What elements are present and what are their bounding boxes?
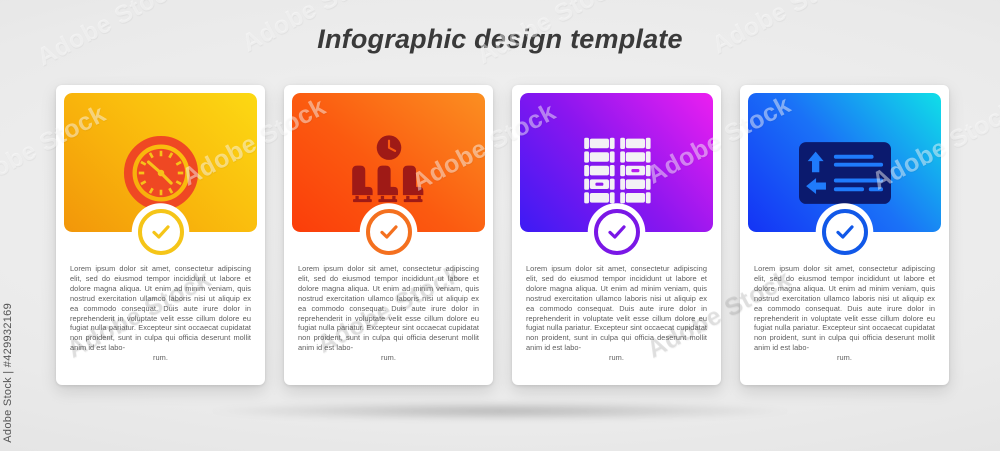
card-body-text: Lorem ipsum dolor sit amet, consectetur … bbox=[64, 264, 257, 385]
card-panel-wrapper bbox=[292, 93, 485, 232]
card-waiting-room[interactable]: Lorem ipsum dolor sit amet, consectetur … bbox=[284, 85, 493, 385]
clock-icon bbox=[122, 134, 200, 212]
seat-marker bbox=[631, 169, 639, 172]
cards-row: Lorem ipsum dolor sit amet, consectetur … bbox=[56, 85, 948, 385]
information-direction-board-icon bbox=[799, 142, 891, 204]
card-clock[interactable]: Lorem ipsum dolor sit amet, consectetur … bbox=[56, 85, 265, 385]
check-badge bbox=[822, 209, 868, 255]
check-icon bbox=[833, 220, 857, 244]
check-badge-ring bbox=[366, 209, 412, 255]
card-body-paragraph: Lorem ipsum dolor sit amet, consectetur … bbox=[70, 264, 251, 352]
check-badge bbox=[138, 209, 184, 255]
card-seat-map[interactable]: Lorem ipsum dolor sit amet, consectetur … bbox=[512, 85, 721, 385]
card-panel-wrapper bbox=[748, 93, 941, 232]
card-body-last-line: rum. bbox=[754, 353, 935, 363]
check-icon bbox=[605, 220, 629, 244]
infographic-canvas: Infographic design template bbox=[0, 0, 1000, 451]
card-body-paragraph: Lorem ipsum dolor sit amet, consectetur … bbox=[526, 264, 707, 352]
check-badge bbox=[366, 209, 412, 255]
card-body-last-line: rum. bbox=[70, 353, 251, 363]
waiting-room-seats-icon bbox=[344, 133, 434, 213]
card-information-board[interactable]: Lorem ipsum dolor sit amet, consectetur … bbox=[740, 85, 949, 385]
seat-marker bbox=[595, 183, 603, 186]
card-body-text: Lorem ipsum dolor sit amet, consectetur … bbox=[520, 264, 713, 385]
card-panel-wrapper bbox=[64, 93, 257, 232]
card-body-text: Lorem ipsum dolor sit amet, consectetur … bbox=[748, 264, 941, 385]
page-title: Infographic design template bbox=[0, 24, 1000, 55]
row-drop-shadow bbox=[90, 398, 910, 424]
check-icon bbox=[149, 220, 173, 244]
check-badge-ring bbox=[138, 209, 184, 255]
check-badge-ring bbox=[822, 209, 868, 255]
check-icon bbox=[377, 220, 401, 244]
card-body-text: Lorem ipsum dolor sit amet, consectetur … bbox=[292, 264, 485, 385]
card-panel-wrapper bbox=[520, 93, 713, 232]
check-badge bbox=[594, 209, 640, 255]
stock-credit-label: Adobe Stock | #429932169 bbox=[2, 303, 14, 443]
card-body-paragraph: Lorem ipsum dolor sit amet, consectetur … bbox=[298, 264, 479, 352]
airplane-seat-map-icon bbox=[569, 134, 665, 212]
check-badge-ring bbox=[594, 209, 640, 255]
card-body-paragraph: Lorem ipsum dolor sit amet, consectetur … bbox=[754, 264, 935, 352]
card-body-last-line: rum. bbox=[526, 353, 707, 363]
card-body-last-line: rum. bbox=[298, 353, 479, 363]
